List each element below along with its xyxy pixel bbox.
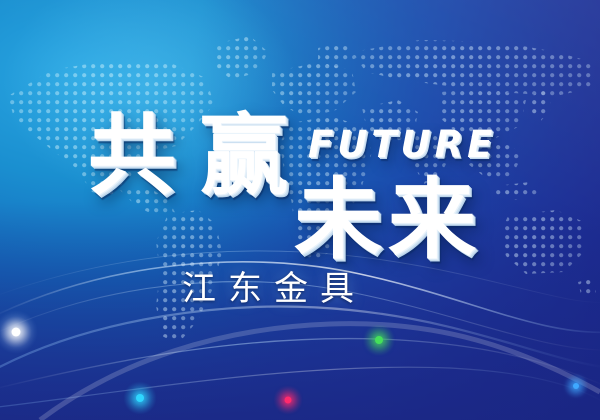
company-name-subtitle: 江东金具 (182, 272, 366, 306)
banner-canvas: 共 赢 未 来 FUTURE 江东金具 (0, 0, 600, 420)
headline-char-wei: 未 (294, 176, 382, 264)
headline-char-ying: 赢 (200, 112, 288, 200)
headline-char-lai: 来 (388, 176, 476, 264)
headline-char-gong: 共 (88, 112, 176, 200)
english-word-future: FUTURE (308, 126, 496, 163)
